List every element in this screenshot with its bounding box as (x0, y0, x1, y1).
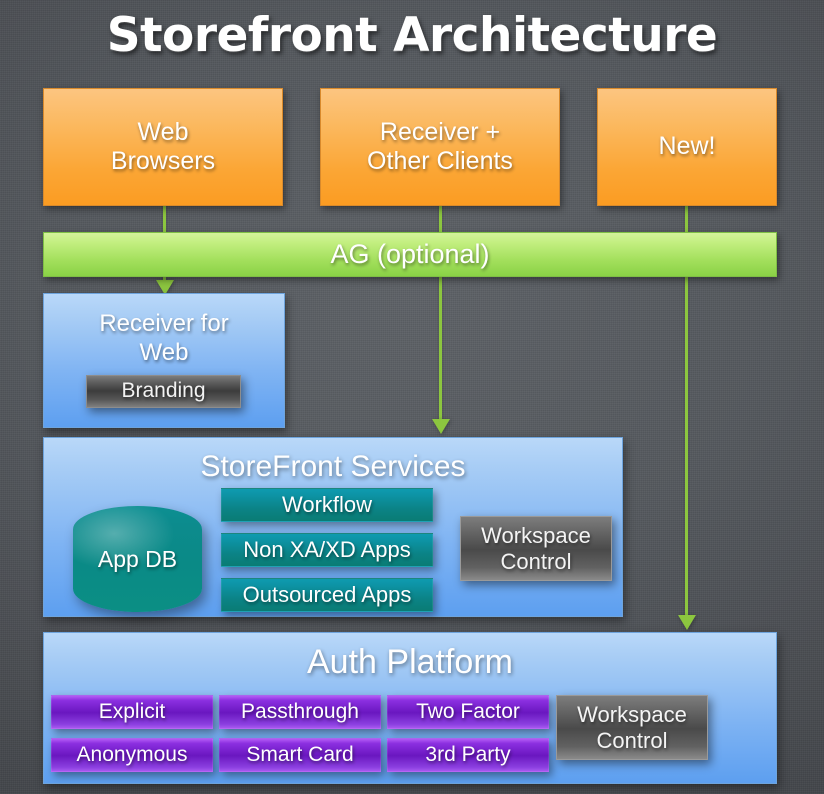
service-chip-label: Outsourced Apps (243, 582, 412, 608)
workspace-control-line2: Control (481, 549, 591, 575)
app-db-cylinder[interactable]: App DB (73, 506, 202, 612)
auth-platform-title: Auth Platform (44, 643, 776, 682)
workspace-control-line1: Workspace (577, 702, 687, 728)
branding-chip-label: Branding (121, 379, 205, 404)
slide-canvas: Storefront Architecture Web Browsers Rec… (0, 0, 824, 794)
gateway-bar[interactable]: AG (optional) (43, 232, 777, 277)
service-chip-non-xa-xd-apps[interactable]: Non XA/XD Apps (221, 533, 433, 567)
receiver-for-web-title-line1: Receiver for (44, 310, 284, 339)
auth-platform-panel[interactable]: Auth Platform Explicit Passthrough Two F… (43, 632, 777, 784)
auth-method-label: Passthrough (241, 700, 359, 725)
service-chip-workflow[interactable]: Workflow (221, 488, 433, 522)
workspace-control-line2: Control (577, 728, 687, 754)
auth-method-label: Smart Card (246, 743, 353, 768)
arrow-line-ag-to-auth (685, 276, 688, 618)
auth-method-label: 3rd Party (425, 743, 510, 768)
client-label-line1: Receiver + (367, 118, 513, 148)
app-db-label: App DB (98, 546, 177, 573)
workspace-control-label: Workspace Control (481, 523, 591, 575)
client-box-label: Receiver + Other Clients (367, 118, 513, 177)
auth-method-anonymous[interactable]: Anonymous (51, 738, 213, 772)
arrow-line-ag-to-storefront (439, 276, 442, 422)
workspace-control-auth[interactable]: Workspace Control (556, 695, 708, 760)
client-label-line1: Web (111, 118, 215, 148)
workspace-control-storefront[interactable]: Workspace Control (460, 516, 612, 581)
client-label-line1: New! (659, 132, 716, 162)
workspace-control-label: Workspace Control (577, 702, 687, 754)
auth-method-label: Explicit (99, 700, 166, 725)
auth-method-smart-card[interactable]: Smart Card (219, 738, 381, 772)
client-label-line2: Browsers (111, 147, 215, 177)
workspace-control-line1: Workspace (481, 523, 591, 549)
client-box-receiver-other-clients[interactable]: Receiver + Other Clients (320, 88, 560, 206)
auth-method-label: Anonymous (77, 743, 188, 768)
service-chip-outsourced-apps[interactable]: Outsourced Apps (221, 578, 433, 612)
client-box-web-browsers[interactable]: Web Browsers (43, 88, 283, 206)
storefront-services-title: StoreFront Services (44, 450, 622, 484)
auth-method-3rd-party[interactable]: 3rd Party (387, 738, 549, 772)
service-chip-label: Non XA/XD Apps (243, 537, 411, 563)
page-title: Storefront Architecture (0, 8, 824, 63)
gateway-label: AG (optional) (330, 239, 489, 271)
client-label-line2: Other Clients (367, 147, 513, 177)
auth-method-passthrough[interactable]: Passthrough (219, 695, 381, 729)
receiver-for-web-title-line2: Web (44, 339, 284, 368)
storefront-services-panel[interactable]: StoreFront Services App DB Workflow Non … (43, 437, 623, 617)
arrow-head-storefront (432, 419, 450, 434)
auth-method-label: Two Factor (416, 700, 520, 725)
client-box-new[interactable]: New! (597, 88, 777, 206)
client-box-label: Web Browsers (111, 118, 215, 177)
receiver-for-web-panel[interactable]: Receiver for Web Branding (43, 293, 285, 428)
client-box-label: New! (659, 132, 716, 162)
auth-method-two-factor[interactable]: Two Factor (387, 695, 549, 729)
receiver-for-web-title: Receiver for Web (44, 310, 284, 368)
auth-method-explicit[interactable]: Explicit (51, 695, 213, 729)
branding-chip[interactable]: Branding (86, 375, 241, 408)
service-chip-label: Workflow (282, 492, 372, 518)
arrow-head-auth (678, 615, 696, 630)
